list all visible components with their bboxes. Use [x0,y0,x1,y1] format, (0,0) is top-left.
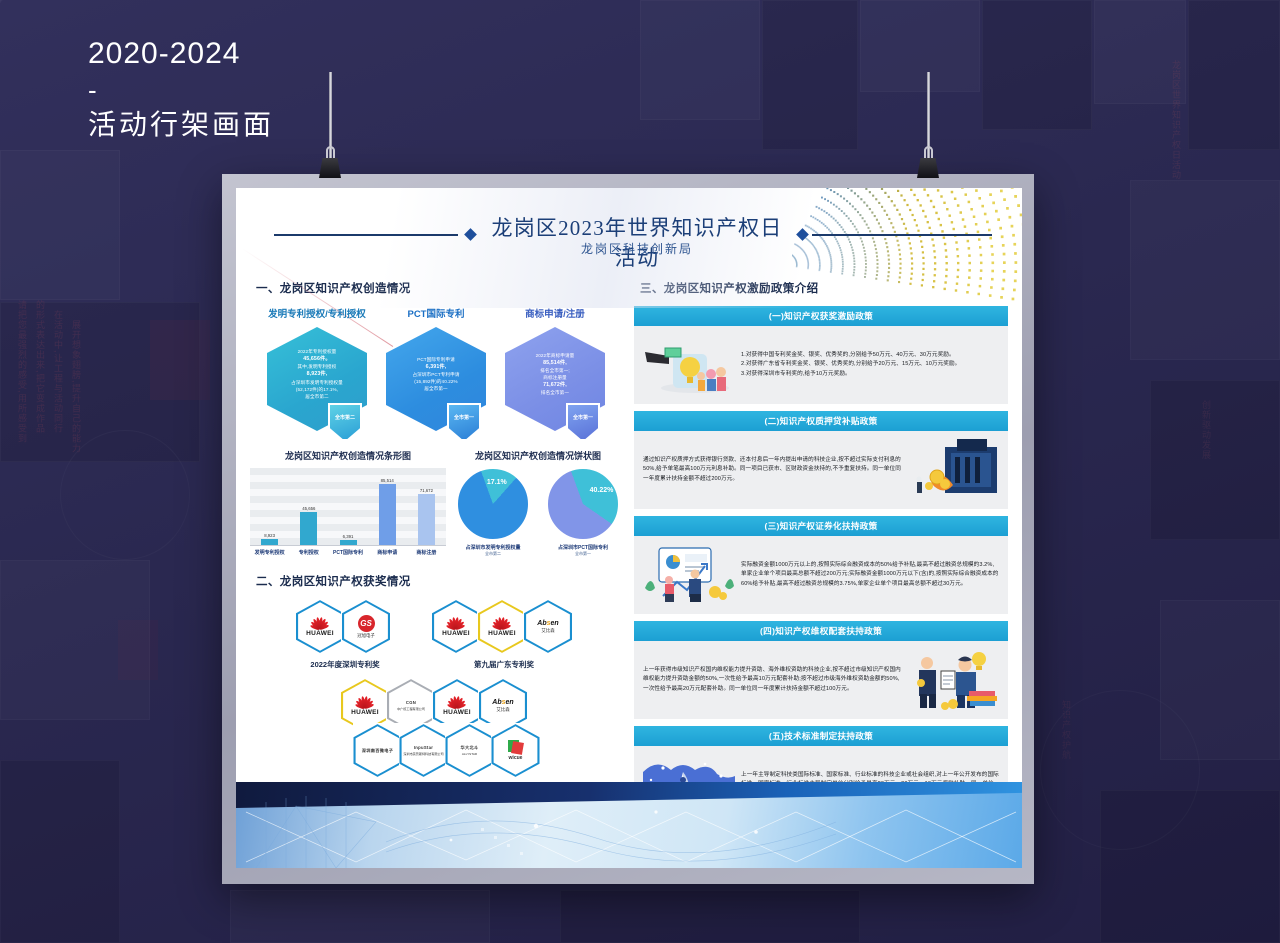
screenshot-stage: 请把您最强烈的感受,用所感受到 的形式表达出来,把它变成作品 在活动中,让工程与… [0,0,1280,943]
stat-hexagon-pct: PCT国际专利 PCT国际专利申请 6,391件, 占深圳市PCT专利申请 (1… [383,306,489,431]
policy-paragraph: 2.对获得广东省专利奖金奖、银奖、优秀奖的,分别给予20万元、15万元、10万元… [741,360,999,369]
header-diamond-left [464,228,477,241]
bar-category-label: 商标申请 [368,549,407,556]
award-group-shenzhen: HUAWEIGS冠旭电子 2022年度深圳专利奖 [299,599,391,670]
hex-line: 其中,发明专利授权 [291,363,343,370]
policy-text-4: 上一年获得市级知识产权国内维权能力提升资助、海外维权资助的科技企业,按不超过市级… [643,666,901,693]
pie-circle: 17.1% [457,468,529,540]
stat-hexagon-patent: 发明专利授权/专利授权 2022年专利授权量 45,656件。 其中,发明专利授… [264,306,370,431]
brand-name: InpuStar [411,745,436,750]
brand-name: HUAWEI [442,630,470,637]
brand-name: wicue [509,755,523,761]
stat-hexagon-caption: 商标申请/注册 [502,306,608,320]
huawei-flower-icon [492,616,512,629]
logo-hexagon-深圳南百微电子: 深圳南百微电子 [353,723,403,778]
brand-name-cn: 艾比森 [496,707,509,713]
brand-name-cn: 冠旭电子 [357,633,375,639]
brand-name: HUAWEI [351,709,379,716]
hex-line: 居全市第一 [412,385,459,392]
huawei-flower-icon [355,695,375,708]
hex-line: 商标注册量 [536,374,575,381]
halftone-dot-decoration [792,188,1022,322]
pie-sublabel: 全市第二 [452,551,534,557]
policy-text-2: 通过知识产权质押方式获得银行贷款、还本付息后一年内提出申请的科技企业,按不超过实… [643,456,901,483]
hex-line: (52,172件)的17.1%, [291,386,343,393]
rank-badge: 全市第一 [447,403,481,441]
logo-hexagon-华大北斗: 华大北斗ALLYSTAR [445,723,495,778]
bar-category-label: 商标注册 [407,549,446,556]
poster-frame: 龙岗区2023年世界知识产权日活动 龙岗区科技创新局 一、龙岗区知识产权创造情况… [222,174,1034,884]
logo-hexagon-wicue: wicue [491,723,541,778]
pie-chart-block: 龙岗区知识产权创造情况饼状图 17.1%占深圳市发明专利授权量全市第二40.22… [452,449,624,557]
bar-category-label: 专利授权 [289,549,328,556]
policy-header-5: (五)技术标准制定扶持政策 [634,726,1008,746]
brand-name: 深圳南百微电子 [359,748,396,753]
policy-body-1: 1.对获得中国专利奖金奖、银奖、优秀奖的,分别给予50万元、40万元、30万元奖… [634,326,1008,404]
policy-text-3: 实际融资金额1000万元以上的,按照实际综合融资成本的50%给予补贴,最高不超过… [741,561,999,588]
tech-strip-graphics [236,782,1022,868]
hand-money-bulb-illustration [643,334,735,396]
right-column: 三、龙岗区知识产权激励政策介绍 (一)知识产权获奖激励政策1.对获得中国专利奖金… [634,276,1008,831]
charts-row: 龙岗区知识产权创造情况条形图 8,92345,6566,39185,51471,… [250,449,622,557]
poster-columns: 一、龙岗区知识产权创造情况 发明专利授权/专利授权 2022年专利授权量 45,… [236,276,1022,831]
logo-hexagon-absen: Absen艾比森 [523,599,573,654]
bar-category-label: PCT国际专利 [328,549,367,556]
header-rule-right [812,234,992,236]
pie-chart-title: 龙岗区知识产权创造情况饼状图 [452,449,624,462]
hexagon-text: PCT国际专利申请 6,391件, 占深圳市PCT专利申请 (15,892件)的… [412,356,459,393]
people-books-illustration [907,649,999,711]
stat-hexagon-row: 发明专利授权/专利授权 2022年专利授权量 45,656件。 其中,发明专利授… [250,306,622,431]
slide-caption: 2020-2024 - 活动行架画面 [88,32,274,146]
award-group-china: HUAWEICGN中广核工程有限公司HUAWEIAbsen艾比森 深圳南百微电子… [332,678,541,794]
hex-value: 85,514件, [543,360,567,366]
bar-chart: 8,92345,6566,39185,51471,672 [250,468,446,546]
logo-hexagons: HUAWEIHUAWEIAbsen艾比森 [435,599,573,654]
caption-dash: - [88,76,274,105]
logo-hexagons: HUAWEIGS冠旭电子 [299,599,391,654]
pie-charts: 17.1%占深圳市发明专利授权量全市第二40.22%占深圳市PCT国际专利全市第… [452,468,624,557]
award-row-2: HUAWEICGN中广核工程有限公司HUAWEIAbsen艾比森 深圳南百微电子… [250,678,622,794]
bar-category-label: 发明专利授权 [250,549,289,556]
pie-circle: 40.22% [547,468,619,540]
poster-bottom-tech-image [236,782,1022,868]
hex-line: (15,892件)的40.22% [412,378,459,385]
logo-hexagon-huawei: HUAWEI [477,599,527,654]
brand-name: Absen [537,620,558,627]
logo-hexagon-huawei: HUAWEI [431,599,481,654]
logo-hexagon-huawei: HUAWEI [295,599,345,654]
page-subtitle: 龙岗区科技创新局 [484,240,790,257]
stat-hexagon-trademark: 商标申请/注册 2022年商标申请量 85,514件, 排名全市第一; 商标注册… [502,306,608,431]
brand-name: 华大北斗 [458,745,482,750]
pie-sublabel: 全市第一 [542,551,624,557]
hex-value: 71,672件, [543,382,567,388]
bar-value-label: 71,672 [420,488,433,493]
poster-header: 龙岗区2023年世界知识产权日活动 龙岗区科技创新局 [236,188,1022,276]
huawei-flower-icon [447,695,467,708]
hex-value: 8,923件, [307,371,328,377]
hex-line: 2022年商标申请量 [536,352,575,359]
policy-paragraph: 通过知识产权质押方式获得银行贷款、还本付息后一年内提出申请的科技企业,按不超过实… [643,456,901,483]
logo-hexagons-row2: 深圳南百微电子InpuStar深圳市英普斯特科技有限公司华大北斗ALLYSTAR… [357,723,541,778]
policy-paragraph: 3.对获得深圳市专利奖的,给予10万元奖励。 [741,370,999,379]
caption-subject: 活动行架画面 [88,104,274,146]
brand-name: HUAWEI [488,630,516,637]
brand-name: Absen [492,699,513,706]
brand-name: HUAWEI [306,630,334,637]
policy-paragraph: 实际融资金额1000万元以上的,按照实际综合融资成本的50%给予补贴,最高不超过… [741,561,999,588]
bar: 85,514 [379,484,396,545]
poster: 龙岗区2023年世界知识产权日活动 龙岗区科技创新局 一、龙岗区知识产权创造情况… [236,188,1022,868]
pie-slice-label: 40.22% [590,487,614,494]
hex-line: PCT国际专利申请 [412,356,459,363]
hex-line: 占深圳市PCT专利申请 [412,371,459,378]
bar-value-label: 45,656 [302,506,315,511]
brand-name: HUAWEI [443,709,471,716]
bank-coins-illustration [907,439,999,501]
pie-label: 占深圳市PCT国际专利 [542,544,624,551]
pie-slice-label: 17.1% [487,479,507,486]
policy-body-2: 通过知识产权质押方式获得银行贷款、还本付息后一年内提出申请的科技企业,按不超过实… [634,431,1008,509]
bar-value-label: 8,923 [264,533,275,538]
awards-section: 二、龙岗区知识产权获奖情况 HUAWEIGS冠旭电子 2022年度深圳专利奖 H… [250,573,622,794]
hexagon-text: 2022年商标申请量 85,514件, 排名全市第一; 商标注册量 71,672… [536,352,575,397]
policy-body-3: 实际融资金额1000万元以上的,按照实际综合融资成本的50%给予补贴,最高不超过… [634,536,1008,614]
policy-body-4: 上一年获得市级知识产权国内维权能力提升资助、海外维权资助的科技企业,按不超过市级… [634,641,1008,719]
clip-body [319,158,341,178]
bar: 71,672 [418,494,435,545]
hex-value: 45,656件。 [303,356,331,362]
bar-chart-category-labels: 发明专利授权专利授权PCT国际专利商标申请商标注册 [250,549,446,556]
policy-header-2: (二)知识产权质押贷补贴政策 [634,411,1008,431]
bar-value-label: 85,514 [381,478,394,483]
poster-content: 龙岗区2023年世界知识产权日活动 龙岗区科技创新局 一、龙岗区知识产权创造情况… [236,188,1022,780]
huawei-flower-icon [310,616,330,629]
brand-name: CGN [403,700,419,705]
brand-name-cn: 艾比森 [541,628,554,634]
halftone-svg [792,188,1022,322]
stat-hexagon-caption: PCT国际专利 [383,306,489,320]
hexagon-text: 2022年专利授权量 45,656件。 其中,发明专利授权 8,923件, 占深… [291,348,343,400]
pie-chart: 40.22%占深圳市PCT国际专利全市第一 [542,468,624,557]
hex-line: 排名全市第一 [536,389,575,396]
award-group-guangdong: HUAWEIHUAWEIAbsen艾比森 第九届广东专利奖 [435,599,573,670]
logo-hexagon-gs: GS冠旭电子 [341,599,391,654]
gs-logo-icon: GS [358,615,375,632]
clip-body [917,158,939,178]
caption-period: 2020-2024 [88,32,274,76]
hex-value: 6,391件, [426,364,447,370]
brand-name-sub: ALLYSTAR [462,752,477,756]
bar: 8,923 [261,539,278,545]
policy-list: (一)知识产权获奖激励政策1.对获得中国专利奖金奖、银奖、优秀奖的,分别给予50… [634,306,1008,824]
left-column: 一、龙岗区知识产权创造情况 发明专利授权/专利授权 2022年专利授权量 45,… [250,276,622,831]
rank-badge: 全市第二 [328,403,362,441]
stat-hexagon-caption: 发明专利授权/专利授权 [264,306,370,320]
pie-chart: 17.1%占深圳市发明专利授权量全市第二 [452,468,534,557]
brand-name-sub: 深圳市英普斯特科技有限公司 [403,751,443,756]
logo-hexagon-inpustar: InpuStar深圳市英普斯特科技有限公司 [399,723,449,778]
section-2-title: 二、龙岗区知识产权获奖情况 [256,573,622,589]
bar-chart-block: 龙岗区知识产权创造情况条形图 8,92345,6566,39185,51471,… [250,449,446,557]
bar-value-label: 6,391 [343,534,354,539]
policy-header-4: (四)知识产权维权配套扶持政策 [634,621,1008,641]
bar: 6,391 [340,540,357,545]
hex-line: 占深圳市发明专利授权量 [291,379,343,386]
award-caption: 第九届广东专利奖 [435,659,573,670]
bar: 45,656 [300,512,317,545]
policy-header-3: (三)知识产权证券化扶持政策 [634,516,1008,536]
bar-chart-title: 龙岗区知识产权创造情况条形图 [250,449,446,462]
rank-badge: 全市第一 [566,403,600,441]
hex-line: 2022年专利授权量 [291,348,343,355]
header-rule-left [274,234,458,236]
wicue-logo-icon [508,740,524,754]
hex-line: 居全市第二 [291,393,343,400]
award-row-1: HUAWEIGS冠旭电子 2022年度深圳专利奖 HUAWEIHUAWEIAbs… [250,599,622,670]
chart-people-illustration [643,544,735,606]
policy-paragraph: 1.对获得中国专利奖金奖、银奖、优秀奖的,分别给予50万元、40万元、30万元奖… [741,351,999,360]
huawei-flower-icon [446,616,466,629]
brand-name-sub: 中广核工程有限公司 [397,706,425,711]
policy-text-1: 1.对获得中国专利奖金奖、银奖、优秀奖的,分别给予50万元、40万元、30万元奖… [741,351,999,378]
hex-line: 排名全市第一; [536,367,575,374]
policy-paragraph: 上一年获得市级知识产权国内维权能力提升资助、海外维权资助的科技企业,按不超过市级… [643,666,901,693]
pie-label: 占深圳市发明专利授权量 [452,544,534,551]
award-caption: 2022年度深圳专利奖 [299,659,391,670]
